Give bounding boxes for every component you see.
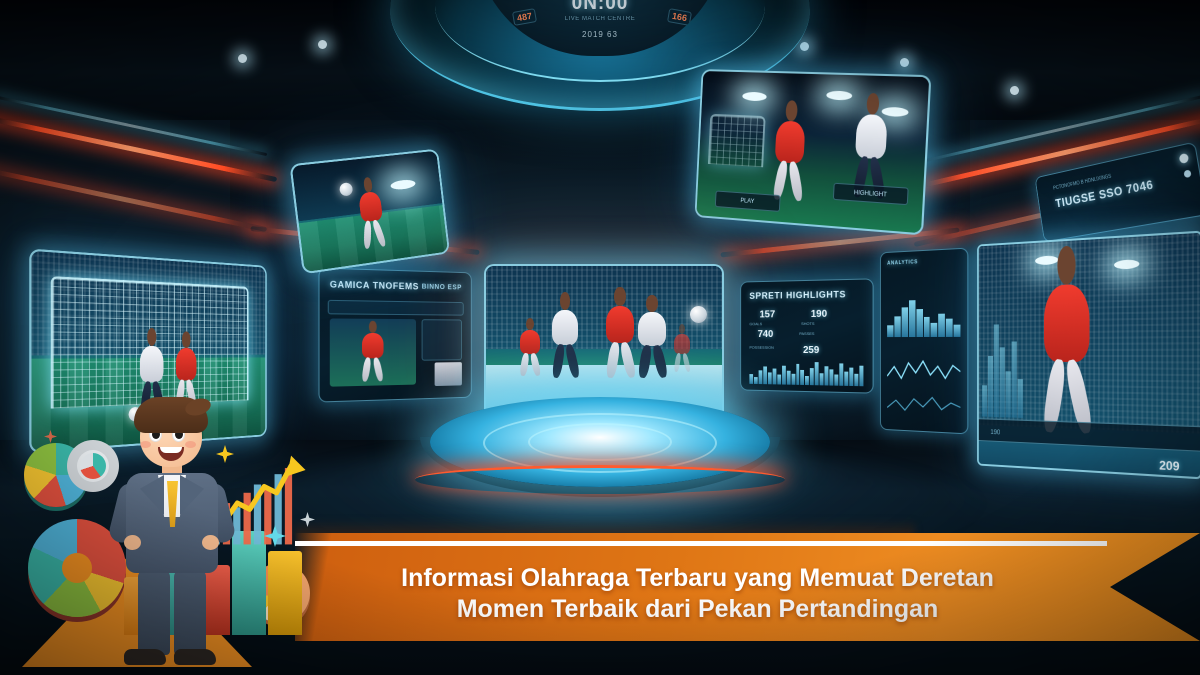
- match-report-meta-row: [328, 300, 464, 316]
- match-report-header-right: BINNO ESP: [422, 284, 462, 292]
- player-white-main-1: [552, 310, 578, 378]
- spotlight-2: [318, 40, 327, 49]
- stat-value-possession: 259: [803, 345, 819, 356]
- analytics-line-chart-2: [887, 392, 960, 419]
- analytics-bars: [887, 296, 960, 337]
- spotlight-4: [900, 58, 909, 67]
- screen-stats[interactable]: SPRETI HIGHLIGHTS 157 GOALS 190 SHOTS 74…: [740, 278, 873, 393]
- stat-label-possession: POSSESSION: [749, 345, 773, 350]
- banner-title: Informasi Olahraga Terbaru yang Memuat D…: [295, 563, 1100, 625]
- stage-podium: [410, 397, 790, 507]
- stat-label-goals: GOALS: [749, 321, 762, 326]
- stats-bar-chart: [749, 358, 863, 386]
- cartoon-businessman-character: [118, 397, 228, 669]
- ticker-led-1: [1179, 153, 1189, 164]
- stat-value-shots: 190: [811, 309, 827, 320]
- character-right-shoe: [174, 649, 216, 665]
- stat-value-passes: 740: [758, 329, 774, 340]
- stats-title: SPRETI HIGHLIGHTS: [749, 289, 846, 301]
- soccer-ball-main: [690, 306, 707, 323]
- sparkle-star-3: [300, 512, 315, 527]
- player-red-runner: [773, 121, 806, 202]
- character-right-hand: [202, 535, 219, 550]
- gear-inner-pie: [80, 453, 106, 479]
- banner-title-line-2: Momen Terbaik dari Pekan Pertandingan: [295, 594, 1100, 625]
- podium-red-edge: [415, 465, 785, 494]
- ticker-led-2: [1183, 169, 1191, 178]
- banner-title-line-1: Informasi Olahraga Terbaru yang Memuat D…: [295, 563, 1100, 594]
- screen-top-right[interactable]: PLAY HIGHLIGHT: [695, 69, 932, 235]
- character-cheek-left: [140, 441, 151, 448]
- character-hair: [134, 397, 208, 433]
- stat-label-shots: SHOTS: [801, 321, 814, 326]
- podium-ring-2: [528, 423, 672, 461]
- scoreboard-chip-left: 487: [512, 8, 537, 26]
- player-white-main-2: [638, 312, 666, 378]
- screen-right-player[interactable]: 209 190: [977, 231, 1200, 480]
- bar-3d-5: [268, 551, 302, 635]
- character-left-shoe: [124, 649, 166, 665]
- infographic-group: [0, 385, 330, 675]
- feature-footer-value: 209: [1159, 458, 1179, 474]
- match-report-photo: [330, 318, 416, 386]
- stat-label-passes: PASSES: [799, 331, 814, 336]
- match-report-sidebar: [422, 319, 462, 361]
- match-report-thumbnail: [435, 362, 462, 386]
- character-left-hand: [124, 535, 141, 550]
- banner-top-rule: [295, 541, 1107, 546]
- scoreboard-chip-right: 166: [667, 8, 692, 26]
- analytics-header: ANALYTICS: [887, 259, 918, 266]
- spotlight-1: [238, 54, 247, 63]
- goal-net-runner: [708, 114, 766, 168]
- spotlight-3: [800, 42, 809, 51]
- character-right-leg: [174, 569, 206, 655]
- screen-left-data[interactable]: GAMICA TNOFEMS BINNO ESP: [318, 267, 471, 402]
- character-left-leg: [138, 569, 170, 655]
- screen-analytics[interactable]: ANALYTICS: [880, 248, 968, 435]
- scoreboard-clock: 0N:00: [572, 0, 629, 15]
- character-cheek-right: [185, 441, 196, 448]
- player-red-main-2: [606, 306, 634, 378]
- headline-banner: Informasi Olahraga Terbaru yang Memuat D…: [295, 533, 1200, 641]
- match-report-header: GAMICA TNOFEMS: [330, 279, 419, 291]
- analytics-line-chart: [887, 355, 960, 386]
- stat-value-goals: 157: [760, 309, 776, 320]
- scoreboard-date-code: 2019 63: [582, 30, 618, 39]
- spotlight-5: [1010, 86, 1019, 95]
- donut-center-hole: [62, 553, 92, 583]
- player-red-main-3: [674, 334, 690, 372]
- screen-top-small[interactable]: [289, 149, 450, 275]
- feature-side-histogram: [982, 311, 1023, 417]
- sparkle-star-2: [264, 525, 286, 547]
- player-red-main-1: [520, 330, 540, 376]
- scoreboard-subtitle: LIVE MATCH CENTRE: [565, 16, 635, 22]
- sparkle-star-4: [44, 430, 57, 443]
- feature-side-value: 190: [990, 429, 1000, 436]
- featured-player: [1044, 284, 1090, 435]
- sports-studio-banner: TWDS AVIAS 487 166 0N:00 LIVE MATCH CENT…: [0, 0, 1200, 675]
